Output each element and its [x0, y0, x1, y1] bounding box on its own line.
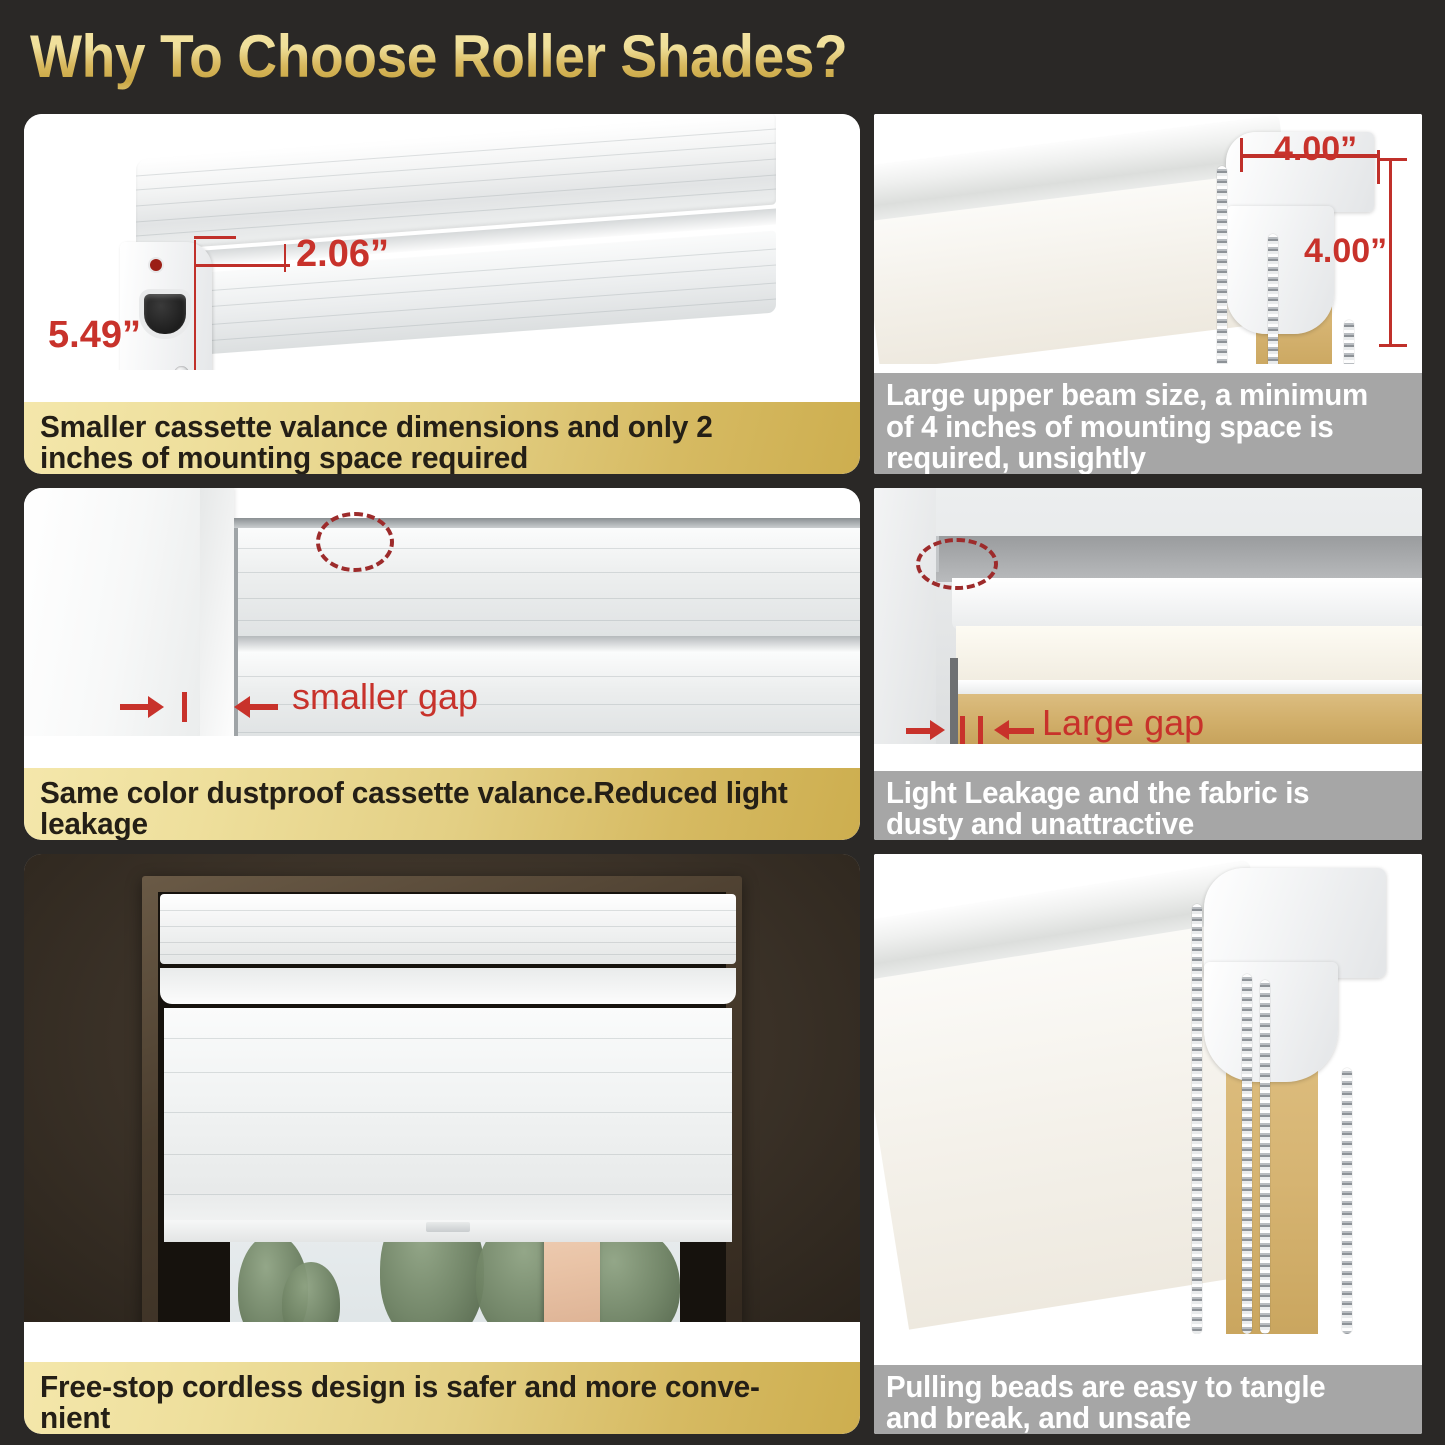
dim-height-line	[1389, 158, 1392, 346]
caption-text: Light Leakage and the fabric is dusty an…	[886, 777, 1384, 840]
caption-dustproof-cassette-valance: Same color dustproof cassette valance.Re…	[24, 768, 860, 840]
gap-highlight-ellipse	[916, 538, 998, 590]
panel-image-light-leakage: Large gap	[874, 488, 1422, 744]
panel-image-room-scene	[24, 854, 860, 1322]
dim-width-line	[194, 264, 290, 267]
bead-chain-mid	[1268, 234, 1278, 364]
infographic-page: Why To Choose Roller Shades?	[0, 0, 1445, 1445]
dim-tick-v-top	[194, 240, 196, 266]
light-gap-edge	[950, 658, 958, 744]
panel-image-cassette-valance: 2.06” 5.49”	[24, 114, 860, 370]
page-title: Why To Choose Roller Shades?	[30, 14, 1134, 100]
gap-label: smaller gap	[292, 676, 478, 718]
caption-light-leakage: Light Leakage and the fabric is dusty an…	[874, 771, 1422, 840]
bead-chain-right	[1344, 320, 1354, 364]
caption-large-upper-beam: Large upper beam size, a minimum of 4 in…	[874, 373, 1422, 474]
page-title-container: Why To Choose Roller Shades?	[30, 14, 1230, 100]
panel-dustproof-cassette-valance: smaller gap Same color dustproof cassett…	[24, 488, 860, 840]
cassette-valance	[160, 894, 736, 964]
caption-text: Pulling beads are easy to tangle and bre…	[886, 1371, 1384, 1434]
caption-text: Free-stop cordless design is safer and m…	[40, 1371, 812, 1434]
dim-tick-h-bottom	[1379, 344, 1407, 347]
mounting-bracket-body	[1204, 962, 1338, 1082]
beam-lip	[956, 680, 1422, 694]
width-dimension-label: 2.06”	[296, 233, 389, 276]
panel-image-dustproof-valance: smaller gap	[24, 488, 860, 736]
caption-text: Smaller cassette valance dimensions and …	[40, 411, 812, 474]
roller-shade-illustration	[874, 854, 1422, 1334]
beam-shadow-bar	[936, 536, 1422, 582]
panel-light-leakage: Large gap Light Leakage and the fabric i…	[874, 488, 1422, 840]
cassette-lower-lip	[160, 968, 736, 1004]
endcap-slot	[144, 294, 186, 334]
roller-shade-illustration: 4.00” 4.00”	[874, 114, 1422, 364]
upper-beam	[952, 578, 1422, 630]
wall-surface	[874, 488, 936, 744]
height-dimension-label: 4.00”	[1304, 232, 1387, 271]
panel-grid: 2.06” 5.49” Smaller cassette valance dim…	[0, 106, 1445, 1445]
cream-fabric-band	[956, 626, 1422, 684]
panel-large-upper-beam: 4.00” 4.00” Large upper beam size, a min…	[874, 114, 1422, 474]
panel-cassette-valance-dimensions: 2.06” 5.49” Smaller cassette valance dim…	[24, 114, 860, 474]
panel-image-large-upper-beam: 4.00” 4.00”	[874, 114, 1422, 364]
bead-chain-left	[1192, 904, 1202, 1334]
window-frame-inner	[200, 488, 234, 736]
width-dimension-label: 4.00”	[1274, 130, 1357, 169]
bead-chain-right	[1342, 1068, 1352, 1334]
dim-tick-w-right	[1377, 150, 1380, 184]
caption-text: Same color dustproof cassette valance.Re…	[40, 777, 812, 840]
mount-screw-marker	[150, 259, 162, 271]
caption-text: Large upper beam size, a minimum of 4 in…	[886, 379, 1384, 474]
gap-highlight-ellipse	[316, 512, 394, 572]
caption-pulling-beads-unsafe: Pulling beads are easy to tangle and bre…	[874, 1365, 1422, 1434]
valance-lip	[238, 636, 860, 652]
pull-tab	[426, 1222, 470, 1232]
valance-illustration: 2.06” 5.49”	[24, 114, 860, 370]
gap-label: Large gap	[1042, 702, 1204, 744]
dim-tick-w-left	[1240, 138, 1243, 172]
height-dimension-label: 5.49”	[48, 314, 141, 357]
panel-free-stop-cordless-design: Free-stop cordless design is safer and m…	[24, 854, 860, 1434]
light-leak-illustration: Large gap	[874, 488, 1422, 744]
bead-chain-mid	[1242, 974, 1252, 1334]
panel-pulling-beads-unsafe: Pulling beads are easy to tangle and bre…	[874, 854, 1422, 1434]
dim-tick-h-top	[1379, 158, 1407, 161]
window-closeup-illustration: smaller gap	[24, 488, 860, 736]
bead-chain-mid-2	[1260, 980, 1270, 1334]
dim-tick-left	[284, 244, 286, 272]
window-frame-outer	[24, 488, 200, 736]
caption-free-stop-cordless-design: Free-stop cordless design is safer and m…	[24, 1362, 860, 1434]
dim-vert-line	[194, 266, 196, 370]
bead-chain-left	[1217, 166, 1227, 364]
dim-top-tick	[194, 236, 236, 239]
caption-cassette-valance-dimensions: Smaller cassette valance dimensions and …	[24, 402, 860, 474]
window-frame	[142, 876, 742, 1322]
panel-image-pulling-beads	[874, 854, 1422, 1334]
shade-fabric	[164, 1008, 732, 1242]
shade-hem-bar	[164, 1220, 732, 1242]
valance-body	[136, 114, 776, 370]
roller-shade-unit	[160, 894, 736, 1242]
